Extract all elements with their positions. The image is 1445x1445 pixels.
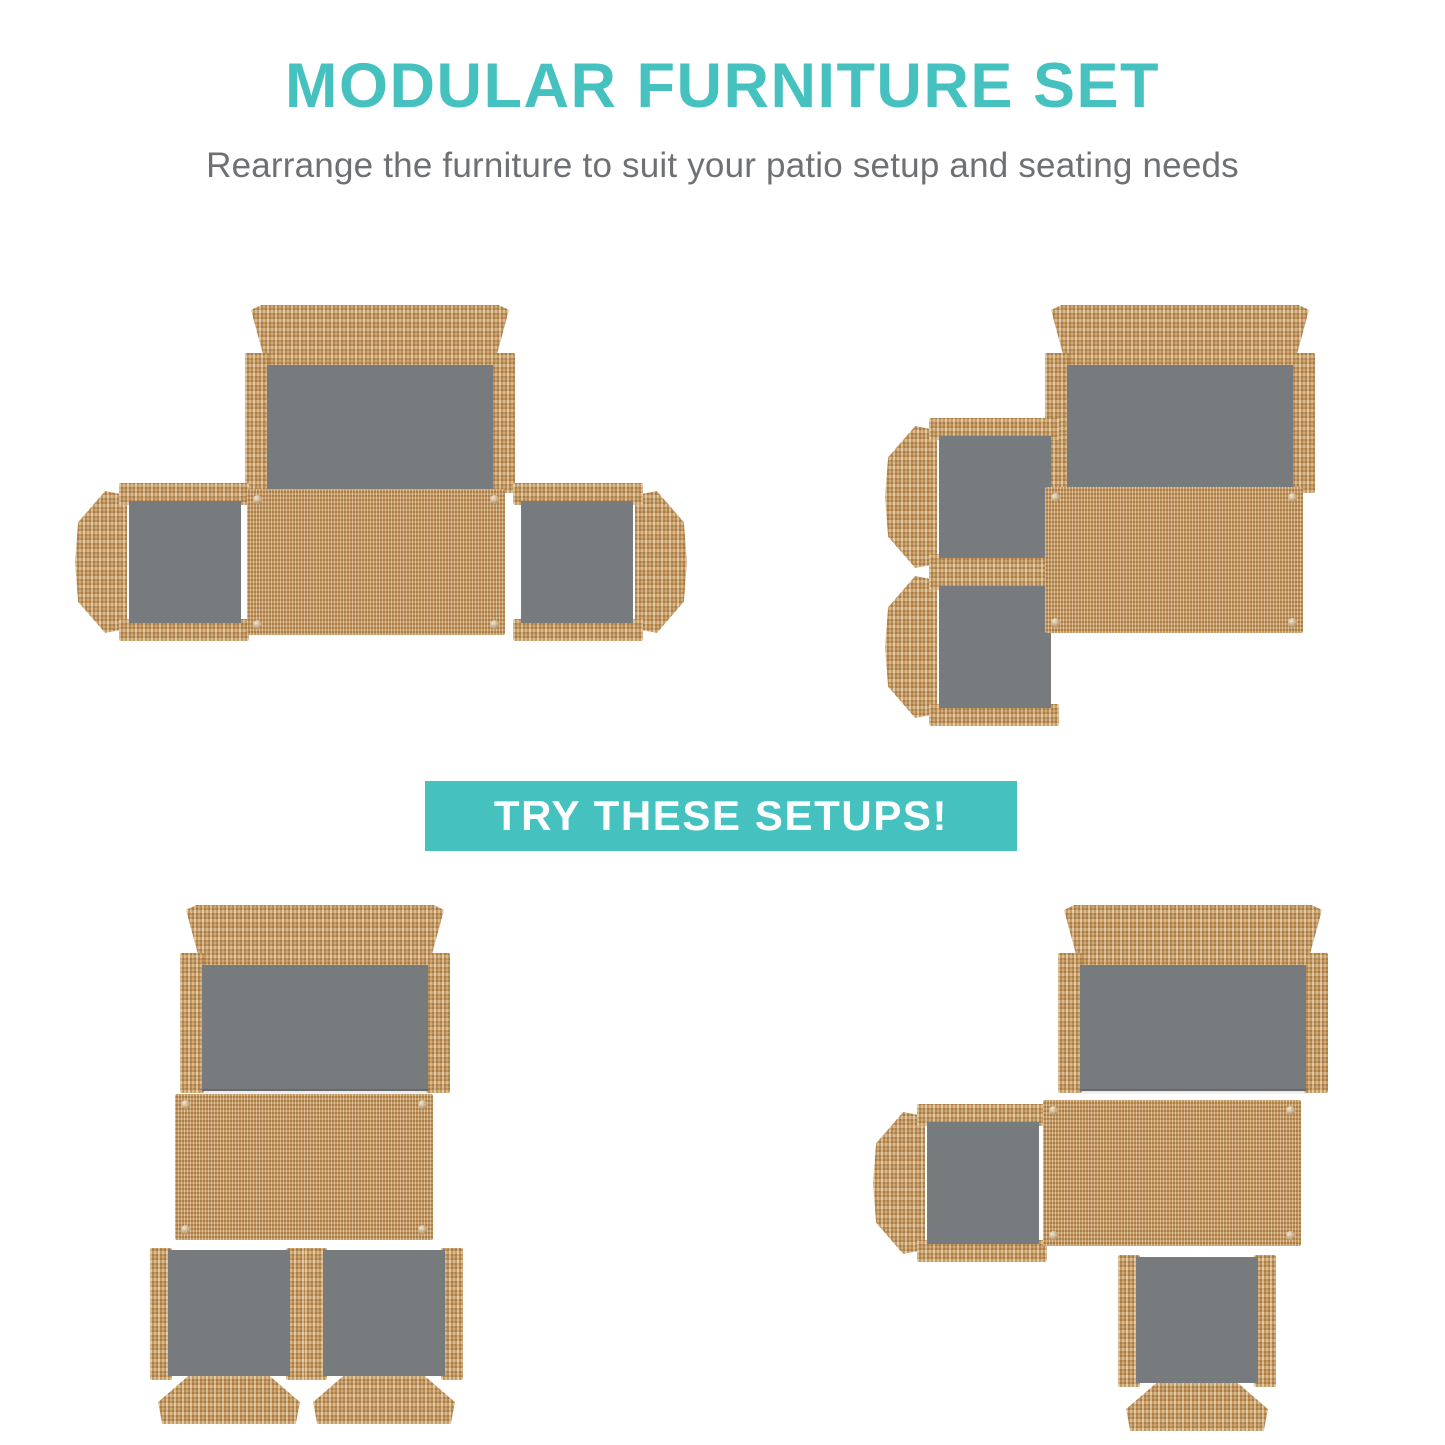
sofa-arm-right <box>1291 353 1315 493</box>
chair-cushion <box>939 436 1051 558</box>
chair-backrest <box>75 491 127 633</box>
table-screw-br <box>490 620 499 629</box>
chair-cushion <box>939 586 1051 708</box>
chair-backrest <box>885 426 937 568</box>
chair-backrest <box>158 1372 300 1424</box>
table-top <box>1043 1100 1301 1246</box>
sofa-shadow <box>1078 1089 1308 1095</box>
sofa-cushion <box>1080 965 1306 1091</box>
sofa-backrest <box>1051 305 1309 367</box>
table-screw-tr <box>490 495 499 504</box>
chair-backrest <box>635 491 687 633</box>
table-screw-bl <box>1049 1231 1058 1240</box>
sofa <box>170 905 460 1095</box>
coffee-table <box>175 1094 433 1240</box>
banner-label: TRY THESE SETUPS! <box>494 792 948 840</box>
table-screw-bl <box>1051 618 1060 627</box>
table-screw-br <box>418 1225 427 1234</box>
header: MODULAR FURNITURE SET Rearrange the furn… <box>0 0 1445 190</box>
chair-backrest <box>873 1112 925 1254</box>
chair-cushion <box>168 1250 290 1376</box>
page-title: MODULAR FURNITURE SET <box>0 0 1445 120</box>
table-screw-tl <box>181 1100 190 1109</box>
table-screw-tr <box>1288 493 1297 502</box>
sofa-cushion <box>202 965 428 1091</box>
coffee-table <box>1045 487 1303 633</box>
table-screw-br <box>1288 618 1297 627</box>
armchair-right <box>511 483 687 641</box>
armchair-left <box>75 483 251 641</box>
table-screw-tl <box>1049 1106 1058 1115</box>
chair-cushion <box>927 1122 1039 1244</box>
table-screw-bl <box>253 620 262 629</box>
sofa-arm-right <box>426 953 450 1093</box>
table-screw-tr <box>1286 1106 1295 1115</box>
table-screw-bl <box>181 1225 190 1234</box>
sofa-arm-left <box>180 953 204 1093</box>
chair-cushion <box>1136 1257 1258 1383</box>
sofa-cushion <box>1067 365 1293 491</box>
sofa-backrest <box>186 905 444 967</box>
sofa <box>1035 305 1325 495</box>
table-top <box>175 1094 433 1240</box>
armchair-side <box>873 1104 1049 1262</box>
armchair-left <box>150 1248 308 1424</box>
table-screw-tr <box>418 1100 427 1109</box>
armchair-front <box>1118 1255 1276 1431</box>
sofa-arm-left <box>1058 953 1082 1093</box>
sofa-backrest <box>251 305 509 367</box>
table-screw-tl <box>1051 493 1060 502</box>
sofa-arm-left <box>245 353 269 493</box>
sofa-arm-right <box>491 353 515 493</box>
chair-backrest <box>313 1372 455 1424</box>
coffee-table <box>247 489 505 635</box>
chair-cushion <box>521 501 633 623</box>
sofa <box>1048 905 1338 1095</box>
armchair-upper <box>885 418 1061 576</box>
page-subtitle: Rearrange the furniture to suit your pat… <box>0 120 1445 190</box>
table-top <box>1045 487 1303 633</box>
sofa <box>235 305 525 495</box>
chair-backrest <box>885 576 937 718</box>
chair-cushion <box>323 1250 445 1376</box>
chair-cushion <box>129 501 241 623</box>
chair-backrest <box>1126 1379 1268 1431</box>
sofa-backrest <box>1064 905 1322 967</box>
table-top <box>247 489 505 635</box>
armchair-right <box>305 1248 463 1424</box>
try-these-setups-banner: TRY THESE SETUPS! <box>425 781 1017 851</box>
armchair-lower <box>885 568 1061 726</box>
table-screw-br <box>1286 1231 1295 1240</box>
coffee-table <box>1043 1100 1301 1246</box>
sofa-cushion <box>267 365 493 491</box>
table-screw-tl <box>253 495 262 504</box>
sofa-arm-right <box>1304 953 1328 1093</box>
